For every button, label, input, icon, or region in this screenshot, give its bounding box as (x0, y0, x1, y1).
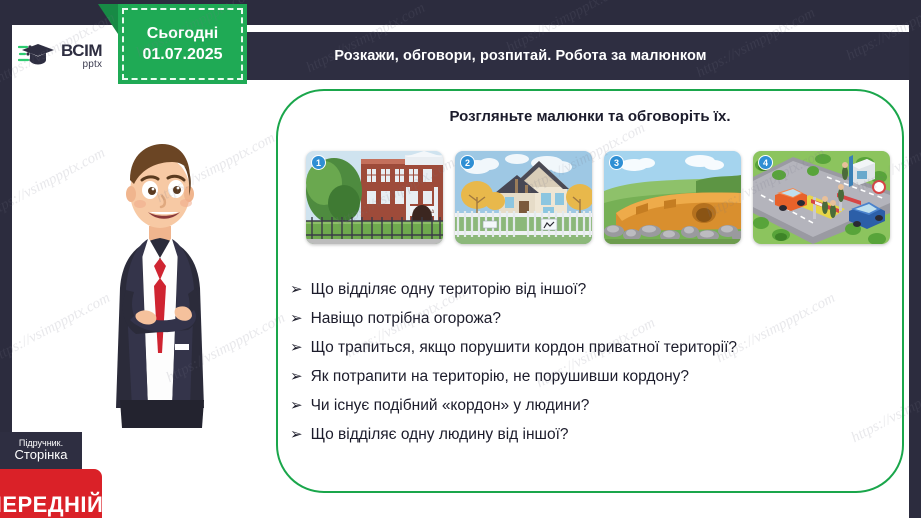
thumbnail-private-house[interactable]: 2 (455, 151, 592, 244)
list-item: ➢ Як потрапити на територію, не порушивш… (290, 368, 894, 397)
list-item: ➢ Що трапиться, якщо порушити кордон при… (290, 339, 894, 368)
list-item: ➢ Що відділяє одну територію від іншої? (290, 281, 894, 310)
thumbnail-row: ШКОЛА (306, 151, 878, 244)
question-text: Що трапиться, якщо порушити кордон прива… (311, 339, 737, 357)
textbook-label-line2: Сторінка (15, 448, 68, 462)
question-text: Навіщо потрібна огорожа? (311, 310, 501, 328)
logo-text: ВСІМ (61, 42, 102, 59)
textbook-page-label: Підручник. Сторінка (0, 432, 82, 469)
thumbnail-earthen-rampart[interactable]: 3 (604, 151, 741, 244)
panel-title: Розгляньте малюнки та обговоріть їх. (278, 108, 902, 125)
date-badge-label: Сьогодні (147, 25, 218, 43)
cartoon-businessman-illustration (92, 108, 228, 428)
list-item: ➢ Чи існує подібний «кордон» у людини? (290, 397, 894, 426)
list-item: ➢ Навіщо потрібна огорожа? (290, 310, 894, 339)
brand-logo[interactable]: ВСІМ pptx (12, 32, 120, 80)
slide-root: Розкажи, обговори, розпитай. Робота за м… (0, 0, 921, 518)
question-text: Чи існує подібний «кордон» у людини? (311, 397, 590, 415)
graduation-cap-icon (18, 39, 58, 74)
thumbnail-number: 4 (758, 155, 773, 170)
question-text: Як потрапити на територію, не порушивши … (311, 368, 689, 386)
logo-subtext: pptx (83, 60, 103, 70)
date-badge: Сьогодні 01.07.2025 (118, 4, 247, 84)
question-text: Що відділяє одну територію від іншої? (311, 281, 587, 299)
date-badge-value: 01.07.2025 (142, 46, 222, 64)
bullet-arrow-icon: ➢ (290, 340, 303, 355)
bullet-arrow-icon: ➢ (290, 427, 303, 442)
question-text: Що відділяє одну людину від іншої? (311, 426, 569, 444)
thumbnail-border-checkpoint[interactable]: 4 (753, 151, 890, 244)
list-item: ➢ Що відділяє одну людину від іншої? (290, 426, 894, 455)
bullet-arrow-icon: ➢ (290, 369, 303, 384)
bullet-arrow-icon: ➢ (290, 398, 303, 413)
bullet-arrow-icon: ➢ (290, 311, 303, 326)
thumbnail-school-building[interactable]: ШКОЛА (306, 151, 443, 244)
red-badge-text: ПЕРЕДНІЙ (0, 492, 102, 518)
thumbnail-number: 3 (609, 155, 624, 170)
content-panel: Розгляньте малюнки та обговоріть їх. (276, 89, 904, 493)
thumbnail-number: 1 (311, 155, 326, 170)
bullet-arrow-icon: ➢ (290, 282, 303, 297)
thumbnail-number: 2 (460, 155, 475, 170)
page-title: Розкажи, обговори, розпитай. Робота за м… (214, 48, 706, 64)
red-badge: ПЕРЕДНІЙ (0, 469, 102, 518)
question-list: ➢ Що відділяє одну територію від іншої? … (290, 281, 894, 455)
